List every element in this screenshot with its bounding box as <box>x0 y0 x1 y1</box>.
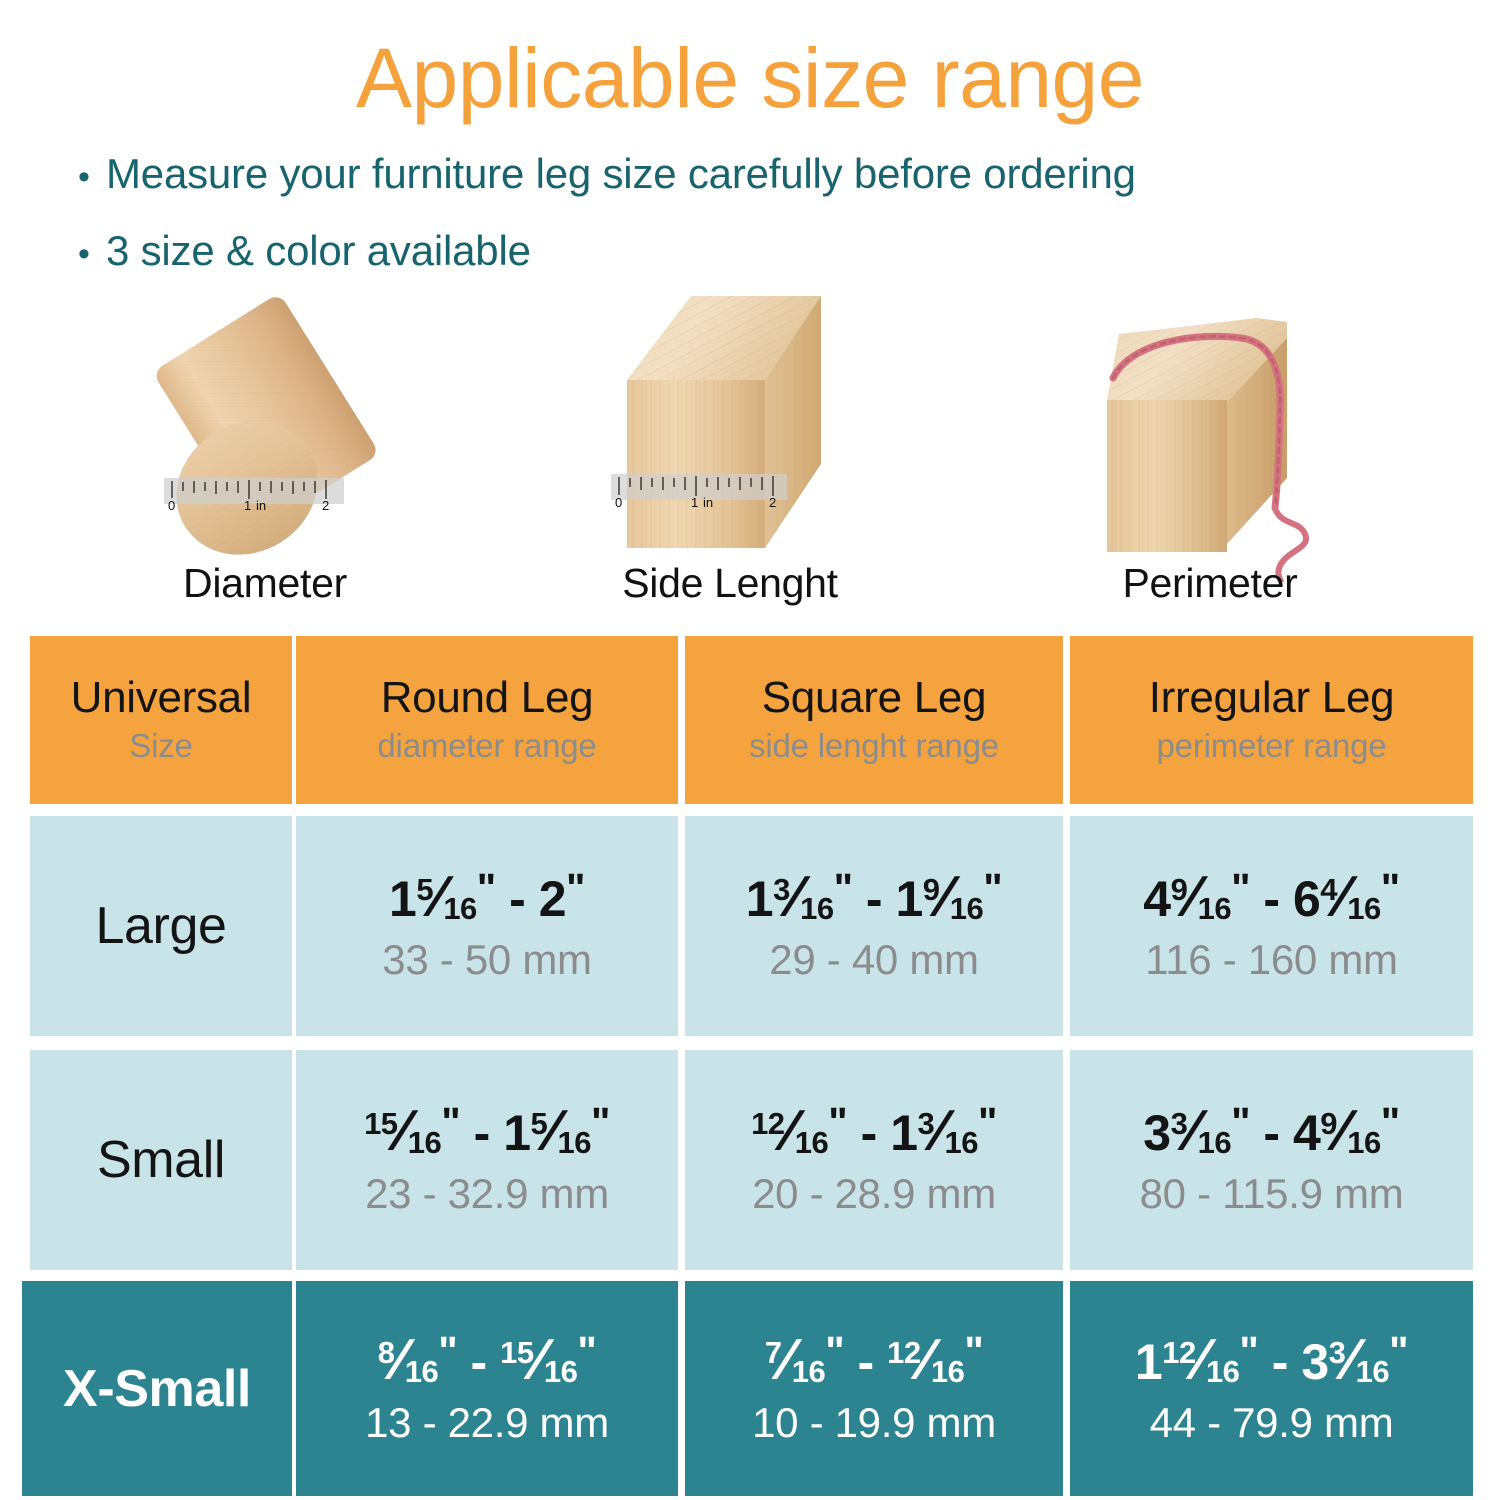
header-cell-irregular-leg: Irregular Leg perimeter range <box>1070 636 1473 804</box>
value-mm: 29 - 40 mm <box>769 935 978 985</box>
row-label: Small <box>97 1130 225 1190</box>
table-row-highlighted: X-Small 8⁄16" - 15⁄16" 13 - 22.9 mm 7⁄16… <box>0 1281 1500 1496</box>
irregular-leg-illustration <box>1075 282 1345 582</box>
size-range-infographic: Applicable size range • Measure your fur… <box>0 0 1500 1500</box>
value-mm: 33 - 50 mm <box>382 935 591 985</box>
cell-xsmall-round: 8⁄16" - 15⁄16" 13 - 22.9 mm <box>296 1281 678 1496</box>
header-sub: side lenght range <box>749 725 999 766</box>
value-inches: 112⁄16" - 33⁄16" <box>1135 1329 1408 1392</box>
value-inches: 33⁄16" - 49⁄16" <box>1143 1100 1399 1163</box>
table-row: Small 15⁄16" - 15⁄16" 23 - 32.9 mm 12⁄16… <box>0 1050 1500 1270</box>
value-mm: 80 - 115.9 mm <box>1140 1169 1404 1219</box>
cell-small-round: 15⁄16" - 15⁄16" 23 - 32.9 mm <box>296 1050 678 1270</box>
value-inches: 15⁄16" - 2" <box>389 866 585 929</box>
square-leg-illustration: 0 1 in 2 <box>605 282 845 562</box>
page-title: Applicable size range <box>0 36 1500 120</box>
bullet-list: • Measure your furniture leg size carefu… <box>78 150 1458 304</box>
illustration-row: 0 1 in 2 <box>0 282 1500 572</box>
svg-text:0: 0 <box>168 498 175 513</box>
bullet-text: Measure your furniture leg size carefull… <box>106 150 1136 197</box>
row-label: Large <box>96 896 227 956</box>
caption-diameter: Diameter <box>90 560 440 607</box>
header-sub: Size <box>129 725 192 766</box>
cell-small-square: 12⁄16" - 13⁄16" 20 - 28.9 mm <box>685 1050 1063 1270</box>
header-cell-universal-size: Universal Size <box>30 636 292 804</box>
row-label: X-Small <box>63 1359 251 1419</box>
svg-text:in: in <box>256 498 266 513</box>
value-mm: 20 - 28.9 mm <box>752 1169 996 1219</box>
cell-large-irregular: 49⁄16" - 64⁄16" 116 - 160 mm <box>1070 816 1473 1036</box>
bullet-text: 3 size & color available <box>106 227 531 274</box>
list-item: • 3 size & color available <box>78 227 1458 274</box>
value-mm: 44 - 79.9 mm <box>1150 1398 1394 1448</box>
round-leg-illustration: 0 1 in 2 <box>150 282 410 562</box>
svg-text:2: 2 <box>322 498 329 513</box>
value-inches: 13⁄16" - 19⁄16" <box>746 866 1002 929</box>
cell-small-irregular: 33⁄16" - 49⁄16" 80 - 115.9 mm <box>1070 1050 1473 1270</box>
value-inches: 8⁄16" - 15⁄16" <box>378 1329 597 1392</box>
svg-text:1: 1 <box>244 498 251 513</box>
row-label-cell: X-Small <box>22 1281 292 1496</box>
header-cell-square-leg: Square Leg side lenght range <box>685 636 1063 804</box>
header-main: Universal <box>71 674 252 722</box>
bullet-dot-icon: • <box>78 160 106 194</box>
svg-text:1: 1 <box>691 495 698 510</box>
list-item: • Measure your furniture leg size carefu… <box>78 150 1458 197</box>
value-inches: 15⁄16" - 15⁄16" <box>364 1100 610 1163</box>
caption-perimeter: Perimeter <box>1020 560 1400 607</box>
svg-text:0: 0 <box>615 495 622 510</box>
bullet-dot-icon: • <box>78 237 106 271</box>
svg-text:2: 2 <box>769 495 776 510</box>
svg-text:in: in <box>703 495 713 510</box>
header-sub: perimeter range <box>1157 725 1387 766</box>
table-header-row: Universal Size Round Leg diameter range … <box>0 636 1500 804</box>
illustration-captions: Diameter Side Lenght Perimeter <box>0 560 1500 620</box>
cell-large-square: 13⁄16" - 19⁄16" 29 - 40 mm <box>685 816 1063 1036</box>
header-main: Irregular Leg <box>1149 674 1395 722</box>
row-label-cell: Large <box>30 816 292 1036</box>
value-mm: 23 - 32.9 mm <box>365 1169 609 1219</box>
caption-side-lenght: Side Lenght <box>540 560 920 607</box>
header-main: Square Leg <box>762 674 987 722</box>
cell-xsmall-irregular: 112⁄16" - 33⁄16" 44 - 79.9 mm <box>1070 1281 1473 1496</box>
header-cell-round-leg: Round Leg diameter range <box>296 636 678 804</box>
cell-large-round: 15⁄16" - 2" 33 - 50 mm <box>296 816 678 1036</box>
cell-xsmall-square: 7⁄16" - 12⁄16" 10 - 19.9 mm <box>685 1281 1063 1496</box>
table-row: Large 15⁄16" - 2" 33 - 50 mm 13⁄16" - 19… <box>0 816 1500 1036</box>
value-inches: 12⁄16" - 13⁄16" <box>751 1100 997 1163</box>
value-mm: 13 - 22.9 mm <box>365 1398 609 1448</box>
value-inches: 49⁄16" - 64⁄16" <box>1143 866 1399 929</box>
value-mm: 116 - 160 mm <box>1145 935 1397 985</box>
value-inches: 7⁄16" - 12⁄16" <box>765 1329 984 1392</box>
header-sub: diameter range <box>377 725 596 766</box>
row-label-cell: Small <box>30 1050 292 1270</box>
header-main: Round Leg <box>381 674 594 722</box>
value-mm: 10 - 19.9 mm <box>752 1398 996 1448</box>
